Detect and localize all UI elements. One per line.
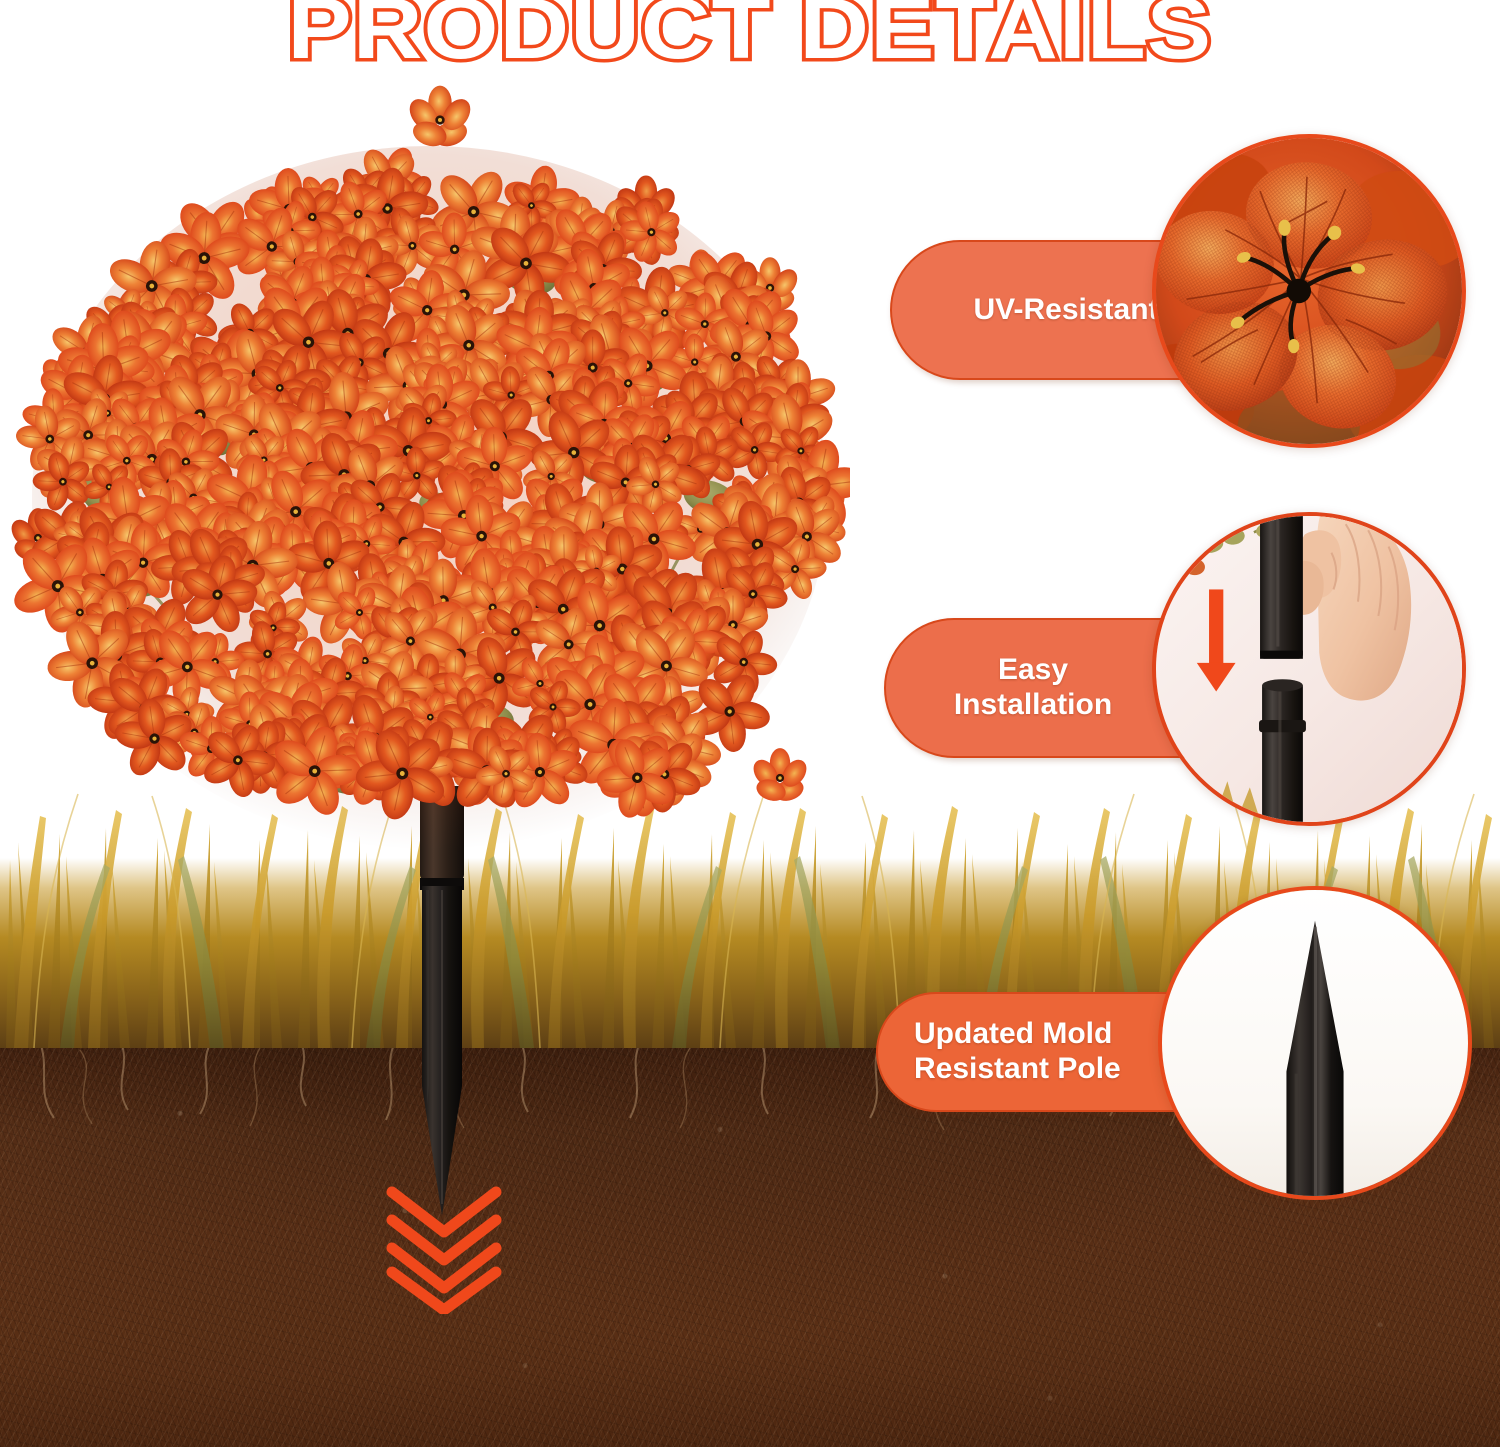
feature-label-line: Resistant Pole [914,1052,1121,1087]
artificial-flower-bush [10,78,850,858]
flower-closeup-image[interactable] [1152,134,1466,448]
page-title-container: PRODUCT DETAILS [0,0,1500,74]
pole-assembly-icon [1156,516,1462,822]
insert-direction-arrows [376,1186,512,1314]
pole-tip-image[interactable] [1158,886,1472,1200]
feature-label-line: UV-Resistant [973,293,1158,328]
flower-closeup-icon [1156,138,1462,444]
pole-tip-icon [1162,890,1468,1196]
product-details-infographic: PRODUCT DETAILS [0,0,1500,1447]
feature-label-line: Updated Mold [914,1017,1121,1052]
page-title: PRODUCT DETAILS [288,0,1213,74]
chevron-down-icon [376,1186,512,1314]
feature-label-line: Easy [886,653,1180,688]
feature-label-line: Installation [886,688,1180,723]
flower-bush-icon [10,78,850,858]
pole-assembly-image[interactable] [1152,512,1466,826]
